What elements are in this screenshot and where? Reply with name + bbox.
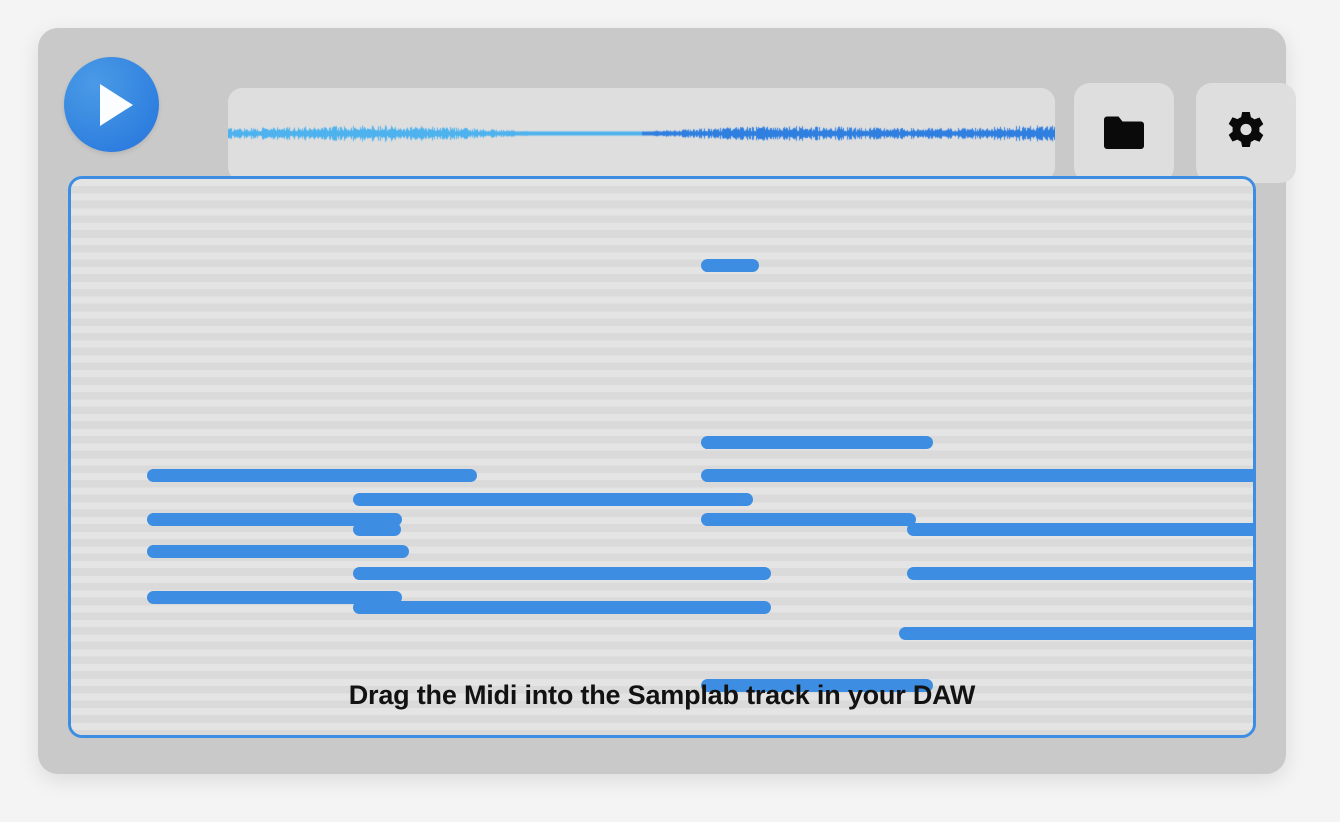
open-file-button[interactable]: [1074, 83, 1174, 183]
midi-note[interactable]: [701, 259, 759, 272]
midi-note[interactable]: [353, 523, 401, 536]
midi-note[interactable]: [907, 567, 1256, 580]
midi-note[interactable]: [353, 601, 771, 614]
midi-note[interactable]: [353, 567, 771, 580]
folder-icon: [1101, 114, 1147, 152]
play-button[interactable]: [64, 57, 159, 152]
gear-icon: [1223, 110, 1269, 156]
midi-note[interactable]: [147, 469, 477, 482]
midi-note[interactable]: [147, 545, 409, 558]
play-icon: [100, 84, 133, 126]
midi-note[interactable]: [353, 493, 753, 506]
app-window: Drag the Midi into the Samplab track in …: [38, 28, 1286, 774]
midi-note[interactable]: [701, 469, 1256, 482]
midi-note[interactable]: [701, 436, 933, 449]
drag-hint-text: Drag the Midi into the Samplab track in …: [71, 680, 1253, 711]
midi-piano-roll-panel[interactable]: Drag the Midi into the Samplab track in …: [68, 176, 1256, 738]
settings-button[interactable]: [1196, 83, 1296, 183]
waveform-panel[interactable]: [228, 88, 1055, 181]
midi-note[interactable]: [899, 627, 1256, 640]
midi-note-layer[interactable]: [71, 179, 1253, 735]
toolbar: [38, 28, 1286, 180]
midi-note[interactable]: [907, 523, 1256, 536]
midi-note[interactable]: [701, 513, 916, 526]
audio-waveform[interactable]: [228, 88, 1055, 181]
